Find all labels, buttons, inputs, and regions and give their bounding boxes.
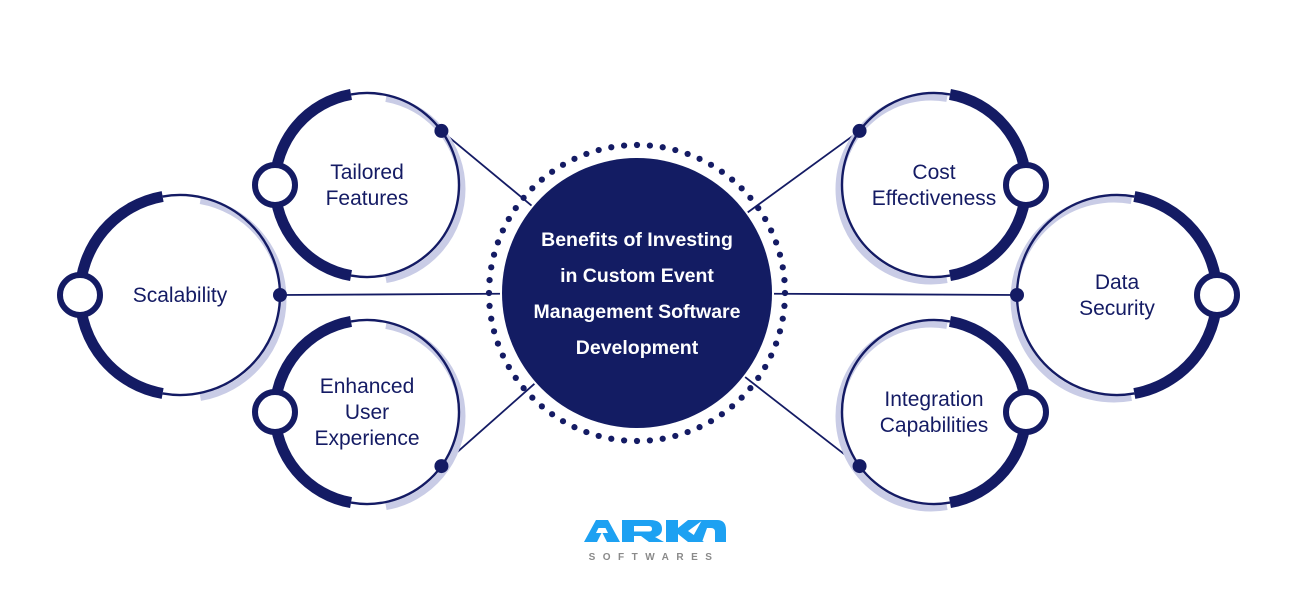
hub-ring-dot-icon [513,205,519,211]
hub-ring-dot-icon [685,151,691,157]
node-label-tailored-features: TailoredFeatures [326,161,409,210]
hub-ring-dot-icon [621,437,627,443]
node-connector-dot-icon [853,124,867,138]
hub-ring-dot-icon [762,216,768,222]
hub-ring-dot-icon [560,418,566,424]
hub-ring-dot-icon [777,252,783,258]
node-label-enhanced-user-experience: EnhancedUserExperience [314,375,419,450]
hub-ring-dot-icon [773,341,779,347]
connector-line-data-security [774,294,1017,295]
hub-ring-dot-icon [608,436,614,442]
node-connector-dot-icon [434,124,448,138]
hub-ring-dot-icon [571,156,577,162]
node-data-security: DataSecurity [1010,195,1237,399]
hub-ring-dot-icon [539,177,545,183]
node-connector-dot-icon [434,459,448,473]
hub-ring-dot-icon [488,264,494,270]
hub-ring-dot-icon [488,316,494,322]
node-endcap-circle-icon [1006,165,1046,205]
hub-ring-dot-icon [685,429,691,435]
hub-ring-dot-icon [486,290,492,296]
hub-ring-dot-icon [708,162,714,168]
node-label-integration-capabilities: IntegrationCapabilities [880,388,989,437]
hub-ring-dot-icon [500,227,506,233]
node-endcap-circle-icon [1197,275,1237,315]
node-cost-effectiveness: CostEffectiveness [839,93,1046,281]
node-label-scalability: Scalability [133,284,228,307]
hub-ring-dot-icon [491,328,497,334]
hub-ring-dot-icon [529,185,535,191]
hub-ring-dot-icon [755,205,761,211]
connector-line-tailored-features [441,131,531,206]
hub-ring-dot-icon [781,277,787,283]
hub-ring-dot-icon [491,252,497,258]
hub-ring-dot-icon [608,144,614,150]
hub-circle [502,158,772,428]
node-tailored-features: TailoredFeatures [255,93,462,280]
hub-ring-dot-icon [495,239,501,245]
hub-ring-dot-icon [781,303,787,309]
node-ring-shadow [386,325,462,506]
hub-ring-dot-icon [529,395,535,401]
hub-ring-dot-icon [486,277,492,283]
hub-ring-dot-icon [696,424,702,430]
node-integration-capabilities: IntegrationCapabilities [839,320,1046,508]
hub-ring-dot-icon [777,328,783,334]
arka-wordmark-icon [576,516,726,550]
node-endcap-circle-icon [255,165,295,205]
hub-ring-dot-icon [560,162,566,168]
hub-ring-dot-icon [747,385,753,391]
hub-ring-dot-icon [583,429,589,435]
hub-ring-dot-icon [647,142,653,148]
hub-ring-dot-icon [747,195,753,201]
hub-ring-dot-icon [596,433,602,439]
hub-ring-dot-icon [634,142,640,148]
hub-ring-dot-icon [549,411,555,417]
hub-ring-dot-icon [768,227,774,233]
hub-ring-dot-icon [729,177,735,183]
connector-line-scalability [280,294,500,295]
hub-ring-dot-icon [660,144,666,150]
hub-ring-dot-icon [495,341,501,347]
node-endcap-circle-icon [1006,392,1046,432]
hub-ring-dot-icon [521,195,527,201]
hub-ring-dot-icon [773,239,779,245]
hub-ring-dot-icon [782,290,788,296]
hub-ring-dot-icon [672,433,678,439]
hub-ring-dot-icon [780,316,786,322]
hub-ring-dot-icon [571,424,577,430]
hub-ring-dot-icon [719,411,725,417]
node-label-cost-effectiveness: CostEffectiveness [872,161,997,210]
hub-ring-dot-icon [549,169,555,175]
hub-ring-dot-icon [521,385,527,391]
hub-ring-dot-icon [719,169,725,175]
hub-ring-dot-icon [583,151,589,157]
hub-ring-dot-icon [539,403,545,409]
node-connector-dot-icon [273,288,287,302]
hub-ring-dot-icon [486,303,492,309]
hub-ring-dot-icon [739,185,745,191]
hub-ring-dot-icon [596,147,602,153]
hub-group: Benefits of Investingin Custom EventMana… [486,142,788,444]
hub-ring-dot-icon [696,156,702,162]
hub-ring-dot-icon [780,264,786,270]
hub-ring-dot-icon [729,403,735,409]
logo-tagline: SOFTWARES [0,552,1301,564]
node-endcap-circle-icon [60,275,100,315]
node-connector-dot-icon [853,459,867,473]
hub-ring-dot-icon [660,436,666,442]
hub-ring-dot-icon [647,437,653,443]
node-scalability: Scalability [60,195,287,397]
hub-ring-dot-icon [672,147,678,153]
hub-ring-dot-icon [708,418,714,424]
node-connector-dot-icon [1010,288,1024,302]
node-label-data-security: DataSecurity [1079,271,1155,320]
hub-ring-dot-icon [513,375,519,381]
hub-ring-dot-icon [621,142,627,148]
node-enhanced-user-experience: EnhancedUserExperience [255,320,462,507]
hub-ring-dot-icon [506,216,512,222]
hub-ring-dot-icon [634,438,640,444]
hub-ring-dot-icon [500,352,506,358]
hub-ring-dot-icon [762,364,768,370]
hub-ring-dot-icon [739,395,745,401]
brand-logo: SOFTWARES [0,516,1301,564]
node-endcap-circle-icon [255,392,295,432]
infographic-canvas: ScalabilityTailoredFeaturesEnhancedUserE… [0,0,1301,615]
hub-ring-dot-icon [755,375,761,381]
hub-ring-dot-icon [768,352,774,358]
hub-ring-dot-icon [506,364,512,370]
